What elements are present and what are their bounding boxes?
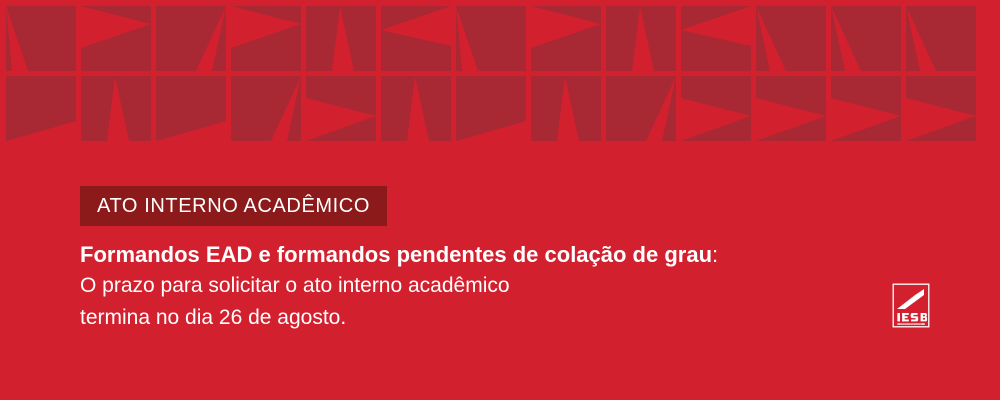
status-badge: ATO INTERNO ACADÊMICO <box>80 186 387 226</box>
headline-bold-text: Formandos EAD e formandos pendentes de c… <box>80 242 712 267</box>
svg-text:Centro Universitário: Centro Universitário <box>900 323 922 326</box>
message-block: Formandos EAD e formandos pendentes de c… <box>80 240 880 334</box>
body-line-2: termina no dia 26 de agosto. <box>80 302 880 334</box>
status-badge-label: ATO INTERNO ACADÊMICO <box>97 196 370 216</box>
iesb-logo: Centro Universitário <box>891 282 931 329</box>
promo-banner: ATO INTERNO ACADÊMICO Formandos EAD e fo… <box>0 0 1000 400</box>
body-line-1: O prazo para solicitar o ato interno aca… <box>80 270 880 302</box>
headline-colon: : <box>712 242 718 267</box>
headline: Formandos EAD e formandos pendentes de c… <box>80 240 880 270</box>
triangle-tile-pattern <box>0 0 1000 143</box>
